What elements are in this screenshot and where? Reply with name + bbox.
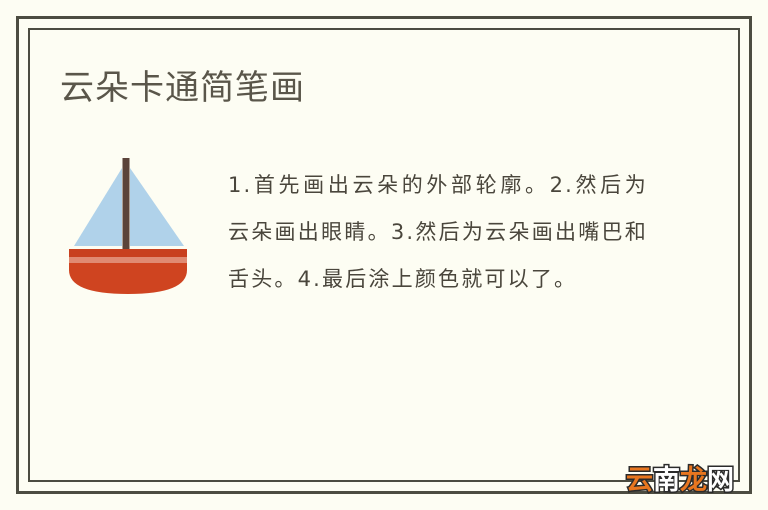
hull-top-band xyxy=(69,249,187,257)
right-sail-shape xyxy=(130,168,184,246)
watermark-char-2: 南 xyxy=(653,464,680,498)
watermark-char-1: 云 xyxy=(626,464,653,498)
left-sail-shape xyxy=(74,168,122,246)
document-page: 云朵卡通简笔画 1.首先画出云朵的外部轮廓。2.然后为云朵画出眼睛。3.然后为云… xyxy=(0,0,768,510)
sailboat-illustration xyxy=(62,150,212,300)
hull-body xyxy=(69,263,187,294)
instruction-text: 1.首先画出云朵的外部轮廓。2.然后为云朵画出眼睛。3.然后为云朵画出嘴巴和舌头… xyxy=(228,162,648,303)
page-title: 云朵卡通简笔画 xyxy=(60,66,305,110)
site-watermark: 云南龙网 xyxy=(626,464,734,498)
watermark-char-4: 网 xyxy=(707,464,734,498)
watermark-char-3: 龙 xyxy=(680,464,707,498)
mast-shape xyxy=(123,158,130,250)
hull-stripe xyxy=(69,257,187,263)
sailboat-icon xyxy=(62,150,212,300)
